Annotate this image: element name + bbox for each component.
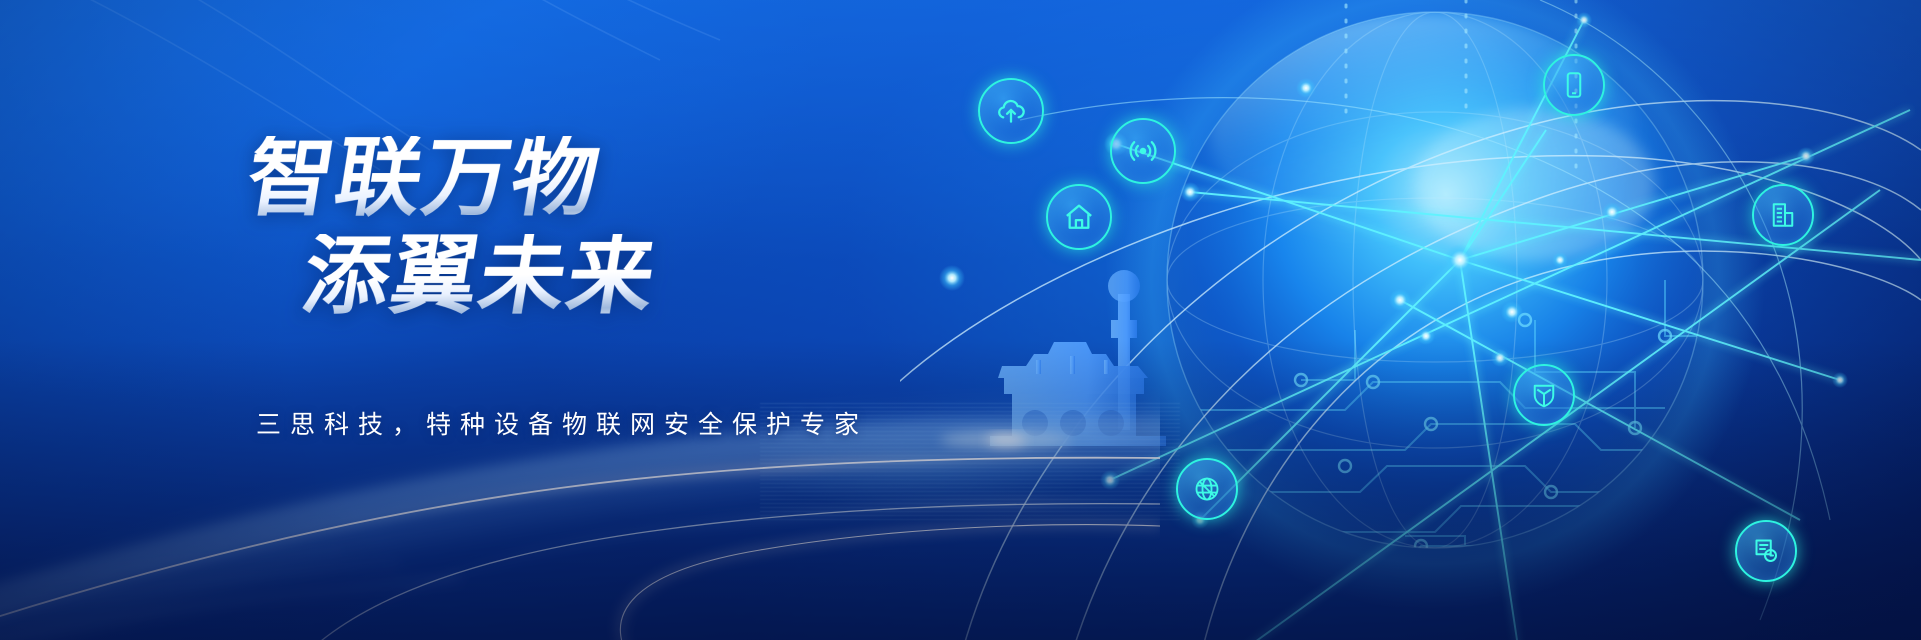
mobile-phone-icon[interactable]: [1543, 54, 1605, 116]
light-trail-road: [0, 330, 1160, 640]
shield-icon[interactable]: [1513, 364, 1575, 426]
vignette: [0, 0, 1921, 640]
cloud-upload-icon[interactable]: [978, 78, 1044, 144]
hero-banner: 智联万物 添翼未来 三思科技，特种设备物联网安全保护专家: [0, 0, 1921, 640]
headline-block: 智联万物 添翼未来: [248, 136, 1008, 319]
wireless-signal-icon[interactable]: [1110, 118, 1176, 184]
headline-line-2: 添翼未来: [297, 234, 1014, 318]
bottom-shade: [0, 340, 1921, 640]
subtitle-text: 三思科技，特种设备物联网安全保护专家: [256, 405, 868, 441]
globe-network-icon[interactable]: [1176, 458, 1238, 520]
home-icon[interactable]: [1046, 184, 1112, 250]
headline-line-1: 智联万物: [241, 136, 1014, 220]
digital-globe: [1105, 0, 1765, 640]
building-icon[interactable]: [1752, 184, 1814, 246]
document-report-icon[interactable]: [1735, 520, 1797, 582]
